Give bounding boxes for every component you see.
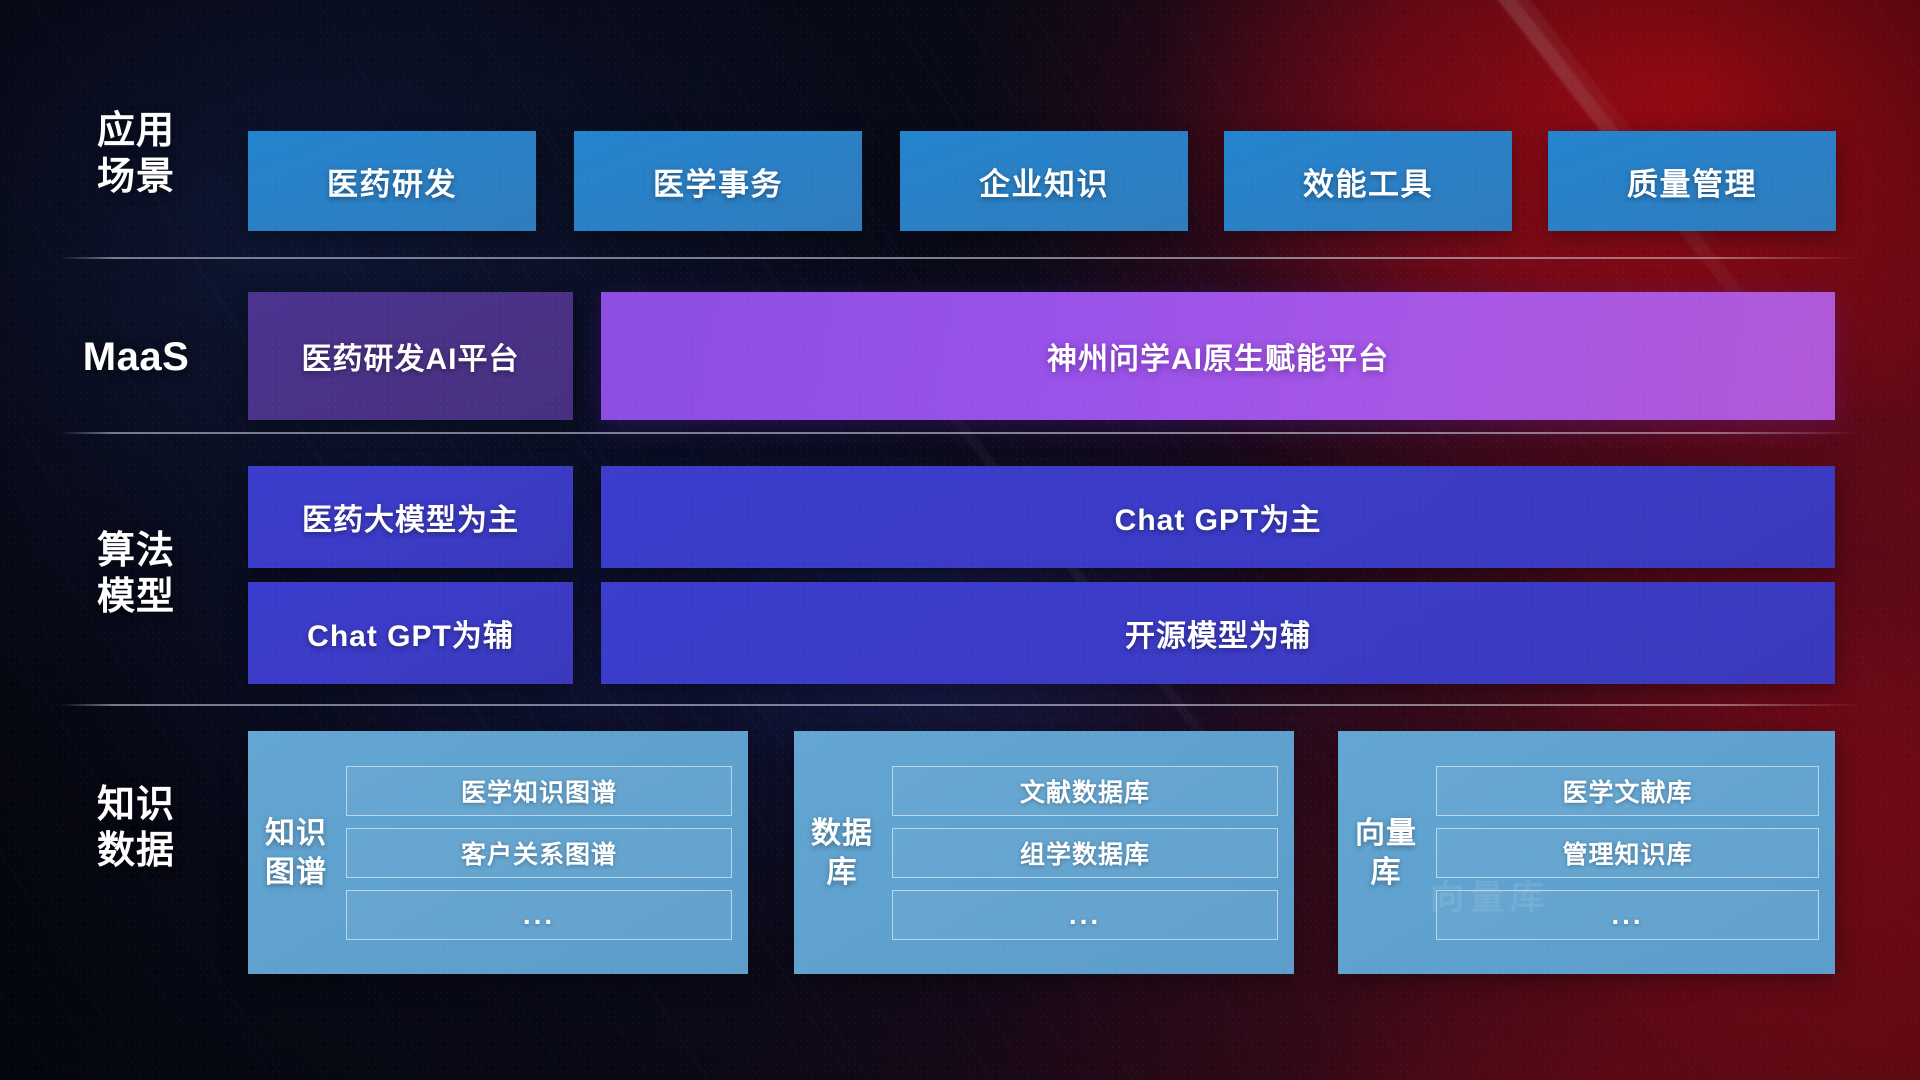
knowledge-panel-database[interactable]: 数据库 文献数据库 组学数据库 ... bbox=[794, 731, 1294, 974]
row-label-application-line1: 应用 bbox=[60, 108, 212, 154]
knowledge-item-label: 医学知识图谱 bbox=[461, 773, 617, 809]
row-label-algorithm-line2: 模型 bbox=[60, 574, 212, 620]
knowledge-item-label: ... bbox=[1611, 899, 1643, 931]
knowledge-panel-title: 向量库 bbox=[1348, 814, 1424, 892]
knowledge-item-label: 客户关系图谱 bbox=[461, 835, 617, 871]
app-box-0[interactable]: 医药研发 bbox=[248, 131, 536, 231]
slide-canvas: 应用 场景 医药研发 医学事务 企业知识 效能工具 质量管理 MaaS 医药研发… bbox=[0, 0, 1920, 1080]
app-box-label: 质量管理 bbox=[1627, 159, 1757, 204]
knowledge-item-label: 管理知识库 bbox=[1562, 835, 1692, 871]
row-label-knowledge: 知识 数据 bbox=[60, 782, 212, 874]
knowledge-item-more[interactable]: ... bbox=[892, 890, 1278, 940]
knowledge-item-more[interactable]: ... bbox=[346, 890, 732, 940]
knowledge-item-more[interactable]: ... bbox=[1436, 890, 1819, 940]
knowledge-panel-graph[interactable]: 知识图谱 医学知识图谱 客户关系图谱 ... bbox=[248, 731, 748, 974]
algorithm-label: 开源模型为辅 bbox=[1125, 611, 1311, 655]
divider-3 bbox=[60, 704, 1860, 706]
row-label-knowledge-line1: 知识 bbox=[60, 782, 212, 828]
knowledge-panel-items: 文献数据库 组学数据库 ... bbox=[880, 766, 1278, 940]
row-label-application: 应用 场景 bbox=[60, 108, 212, 200]
app-box-label: 医学事务 bbox=[653, 159, 783, 204]
knowledge-item-label: 组学数据库 bbox=[1020, 835, 1150, 871]
divider-2 bbox=[60, 432, 1860, 434]
row-label-application-line2: 场景 bbox=[60, 154, 212, 200]
knowledge-item-label: ... bbox=[1069, 899, 1101, 931]
knowledge-item-label: ... bbox=[523, 899, 555, 931]
algorithm-label: Chat GPT为主 bbox=[1115, 495, 1322, 539]
knowledge-panel-items: 医学文献库 管理知识库 ... bbox=[1424, 766, 1819, 940]
knowledge-item[interactable]: 医学知识图谱 bbox=[346, 766, 732, 816]
knowledge-panel-title: 知识图谱 bbox=[258, 814, 334, 892]
row-label-algorithm: 算法 模型 bbox=[60, 528, 212, 620]
app-box-label: 企业知识 bbox=[979, 159, 1109, 204]
knowledge-item[interactable]: 组学数据库 bbox=[892, 828, 1278, 878]
maas-platform-label: 医药研发AI平台 bbox=[302, 334, 520, 378]
algorithm-box-primary-right[interactable]: Chat GPT为主 bbox=[601, 466, 1835, 568]
maas-enablement-label: 神州问学AI原生赋能平台 bbox=[1047, 334, 1389, 378]
app-box-3[interactable]: 效能工具 bbox=[1224, 131, 1512, 231]
knowledge-item[interactable]: 医学文献库 bbox=[1436, 766, 1819, 816]
diagram-content: 应用 场景 医药研发 医学事务 企业知识 效能工具 质量管理 MaaS 医药研发… bbox=[0, 0, 1920, 1080]
row-label-maas: MaaS bbox=[60, 334, 212, 380]
app-box-label: 效能工具 bbox=[1303, 159, 1433, 204]
row-label-knowledge-line2: 数据 bbox=[60, 828, 212, 874]
algorithm-box-secondary-left[interactable]: Chat GPT为辅 bbox=[248, 582, 573, 684]
app-box-4[interactable]: 质量管理 bbox=[1548, 131, 1836, 231]
knowledge-item-label: 医学文献库 bbox=[1562, 773, 1692, 809]
algorithm-label: 医药大模型为主 bbox=[302, 495, 519, 539]
divider-1 bbox=[60, 257, 1860, 259]
knowledge-panel-items: 医学知识图谱 客户关系图谱 ... bbox=[334, 766, 732, 940]
row-label-maas-text: MaaS bbox=[60, 334, 212, 380]
algorithm-box-primary-left[interactable]: 医药大模型为主 bbox=[248, 466, 573, 568]
knowledge-item[interactable]: 管理知识库 bbox=[1436, 828, 1819, 878]
knowledge-item[interactable]: 客户关系图谱 bbox=[346, 828, 732, 878]
app-box-2[interactable]: 企业知识 bbox=[900, 131, 1188, 231]
algorithm-box-secondary-right[interactable]: 开源模型为辅 bbox=[601, 582, 1835, 684]
algorithm-label: Chat GPT为辅 bbox=[307, 611, 514, 655]
knowledge-panel-vector[interactable]: 向量库 医学文献库 管理知识库 ... bbox=[1338, 731, 1835, 974]
maas-platform-box[interactable]: 医药研发AI平台 bbox=[248, 292, 573, 420]
app-box-label: 医药研发 bbox=[327, 159, 457, 204]
knowledge-item[interactable]: 文献数据库 bbox=[892, 766, 1278, 816]
maas-enablement-banner[interactable]: 神州问学AI原生赋能平台 bbox=[601, 292, 1835, 420]
knowledge-panel-title: 数据库 bbox=[804, 814, 880, 892]
app-box-1[interactable]: 医学事务 bbox=[574, 131, 862, 231]
row-label-algorithm-line1: 算法 bbox=[60, 528, 212, 574]
knowledge-item-label: 文献数据库 bbox=[1020, 773, 1150, 809]
